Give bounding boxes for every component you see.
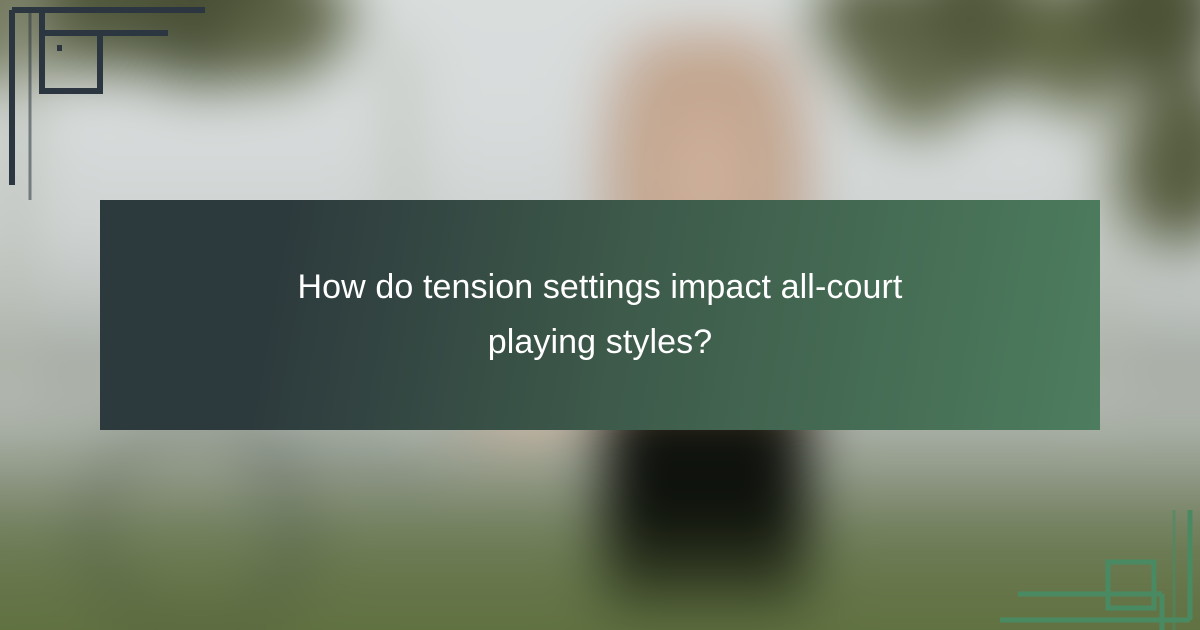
page-title: How do tension settings impact all-court… (250, 260, 950, 370)
bicycle-wheel (86, 416, 309, 630)
question-card: How do tension settings impact all-court… (0, 0, 1200, 630)
corner-bracket-bottom-right-icon (1000, 510, 1200, 630)
corner-bracket-top-left-icon (0, 0, 210, 200)
headline-banner: How do tension settings impact all-court… (100, 200, 1100, 430)
